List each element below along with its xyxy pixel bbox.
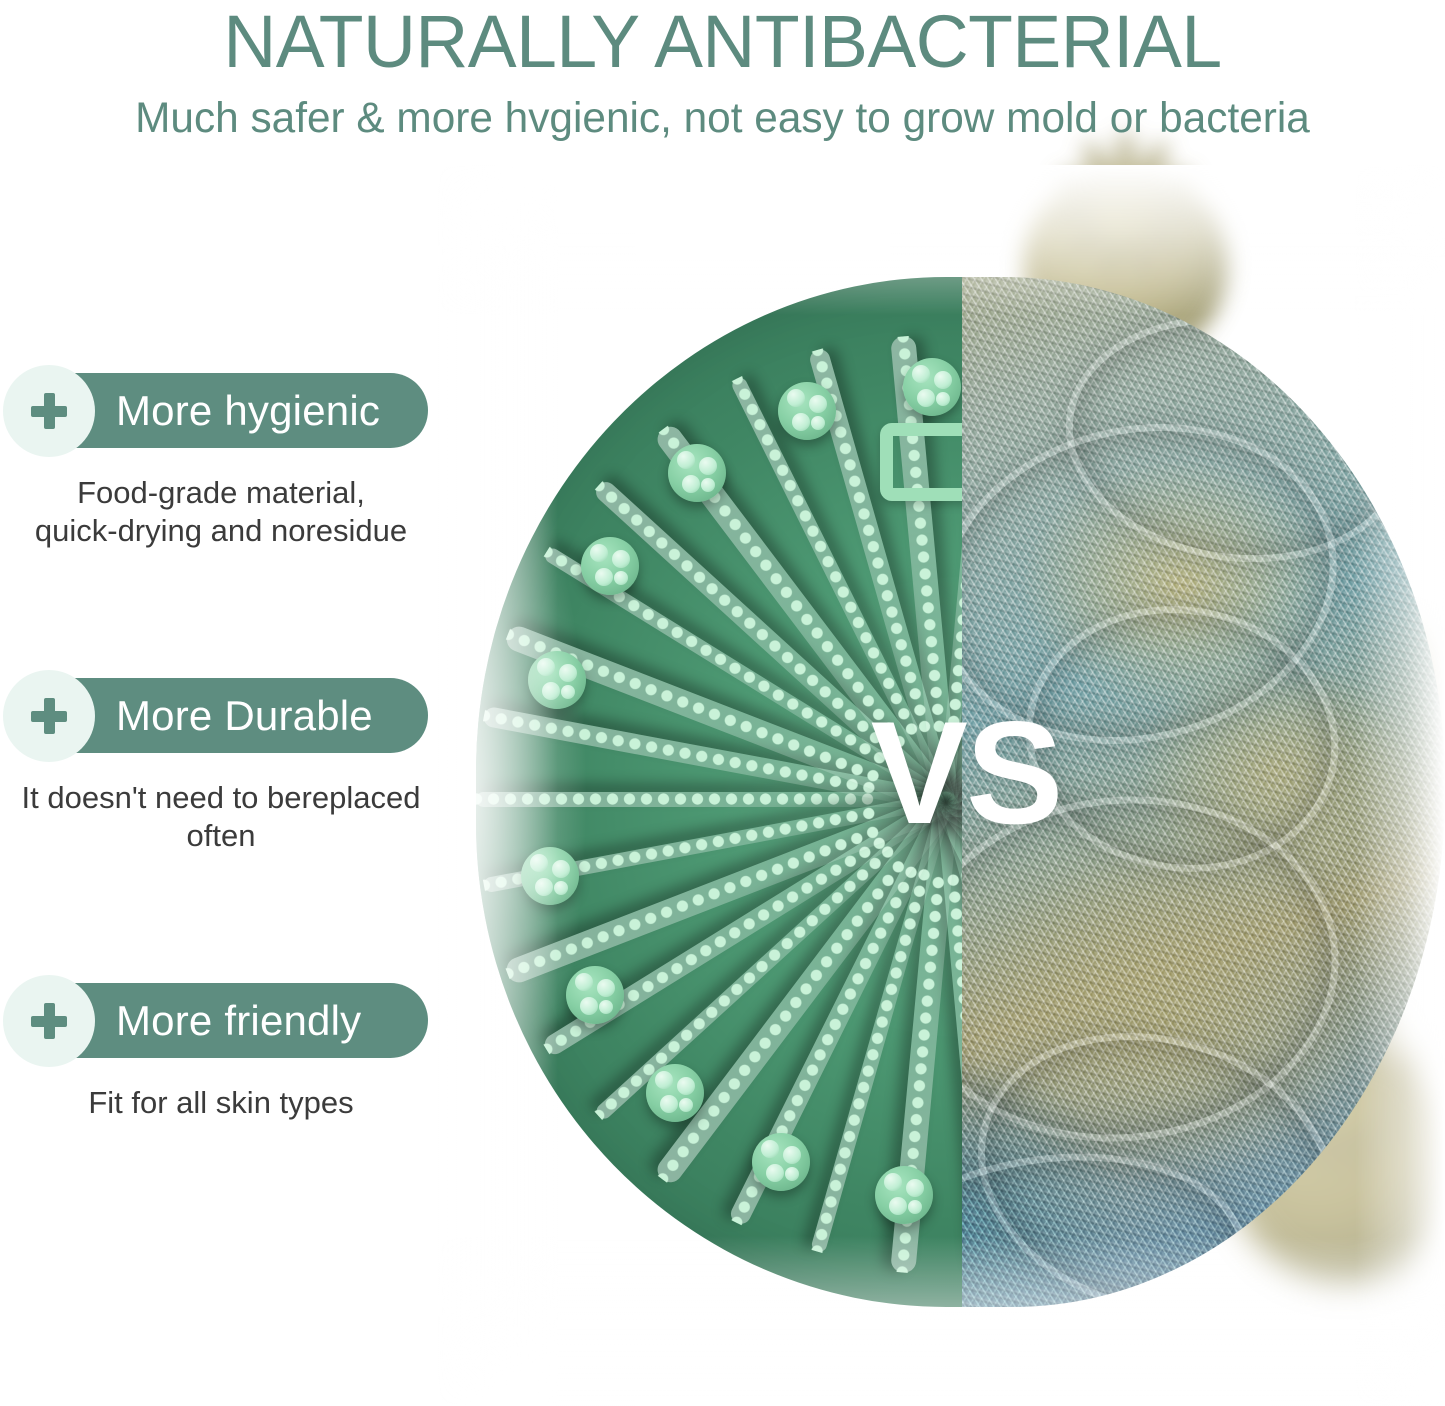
silicone-dot-row (946, 871, 962, 1270)
silicone-knob (566, 966, 624, 1024)
silicone-knob-bump (934, 371, 952, 389)
silicone-knob-bump (559, 664, 577, 682)
silicone-knob-bump (575, 973, 593, 991)
silicone-knob-bump (906, 1179, 924, 1197)
silicone-knob-bump (561, 685, 575, 699)
bacteria-spike (1151, 168, 1196, 201)
silicone-knob-bump (612, 550, 630, 568)
bacteria-spike (1126, 234, 1154, 278)
feature-label: More friendly (116, 999, 361, 1043)
silicone-knob-bump (912, 365, 930, 383)
silicone-knob-bump (761, 1140, 779, 1158)
silicone-knob-bump (917, 389, 935, 407)
silicone-knob-bump (660, 1095, 678, 1113)
feature-pill-more-durable: More Durable (28, 678, 428, 753)
silicone-knob (903, 358, 961, 416)
feature-label: More Durable (116, 694, 373, 738)
silicone-knob-bump (554, 881, 568, 895)
bacteria-spike (1097, 234, 1125, 278)
plus-icon (3, 975, 95, 1067)
feature-label: More hygienic (116, 389, 380, 433)
silicone-knob-bump (590, 544, 608, 562)
page-subtitle: Much safer & more hvgienic, not easy to … (11, 80, 1434, 142)
silicone-knob (646, 1064, 704, 1122)
silicone-knob-bump (792, 413, 810, 431)
feature-caption: It doesn't need to bereplacedoften (0, 779, 440, 855)
silicone-knob (752, 1133, 810, 1191)
silicone-knob-bump (542, 682, 560, 700)
plus-glyph (29, 1001, 69, 1041)
silicone-knob-bump (682, 475, 700, 493)
vs-label: VS (846, 700, 1086, 846)
plus-icon (3, 365, 95, 457)
silicone-knob-bump (783, 1146, 801, 1164)
bacteria-spike (1144, 220, 1186, 260)
silicone-knob (528, 651, 586, 709)
feature-caption: Fit for all skin types (0, 1084, 440, 1122)
silicone-knob-bump (908, 1200, 922, 1214)
plus-glyph (29, 696, 69, 736)
silicone-knob-bump (599, 1000, 613, 1014)
silicone-knob-bump (809, 395, 827, 413)
silicone-knob-bump (537, 658, 555, 676)
feature-pill-more-friendly: More friendly (28, 983, 428, 1058)
silicone-knob-bump (655, 1071, 673, 1089)
feature-pill-more-hygienic: More hygienic (28, 373, 428, 448)
feature-item-more-durable: More Durable It doesn't need to bereplac… (0, 678, 470, 855)
product-comparison-image: VS (438, 165, 1445, 1406)
silicone-knob (668, 444, 726, 502)
silicone-knob-bump (597, 979, 615, 997)
silicone-knob-bump (677, 1077, 695, 1095)
bacteria-spike (1156, 202, 1199, 225)
bacteria-spike (1052, 202, 1095, 225)
header: NATURALLY ANTIBACTERIAL Much safer & mor… (0, 0, 1445, 142)
plus-glyph (29, 391, 69, 431)
silicone-knob (521, 847, 579, 905)
silicone-knob-bump (701, 478, 715, 492)
silicone-knob-bump (677, 451, 695, 469)
feature-item-more-hygienic: More hygienic Food-grade material,quick-… (0, 373, 470, 550)
silicone-dot-row (476, 793, 876, 806)
silicone-knob (581, 537, 639, 595)
bacteria-spike (1065, 220, 1107, 260)
silicone-knob-bump (679, 1098, 693, 1112)
feature-caption: Food-grade material,quick-drying and nor… (0, 474, 440, 550)
silicone-knob-bump (766, 1164, 784, 1182)
silicone-knob-bump (889, 1197, 907, 1215)
silicone-knob-bump (552, 860, 570, 878)
silicone-knob-bump (811, 416, 825, 430)
feature-item-more-friendly: More friendly Fit for all skin types (0, 983, 470, 1122)
silicone-knob-bump (785, 1167, 799, 1181)
hanging-hole (880, 423, 962, 501)
silicone-knob-bump (535, 878, 553, 896)
silicone-knob-bump (595, 568, 613, 586)
silicone-knob-bump (699, 457, 717, 475)
silicone-knob-bump (787, 389, 805, 407)
silicone-knob-bump (614, 571, 628, 585)
silicone-knob-bump (580, 997, 598, 1015)
silicone-knob-bump (936, 392, 950, 406)
silicone-knob-bump (530, 854, 548, 872)
silicone-knob-bump (884, 1173, 902, 1191)
silicone-knob (875, 1166, 933, 1224)
silicone-knob (778, 382, 836, 440)
page-title: NATURALLY ANTIBACTERIAL (7, 0, 1438, 80)
plus-icon (3, 670, 95, 762)
